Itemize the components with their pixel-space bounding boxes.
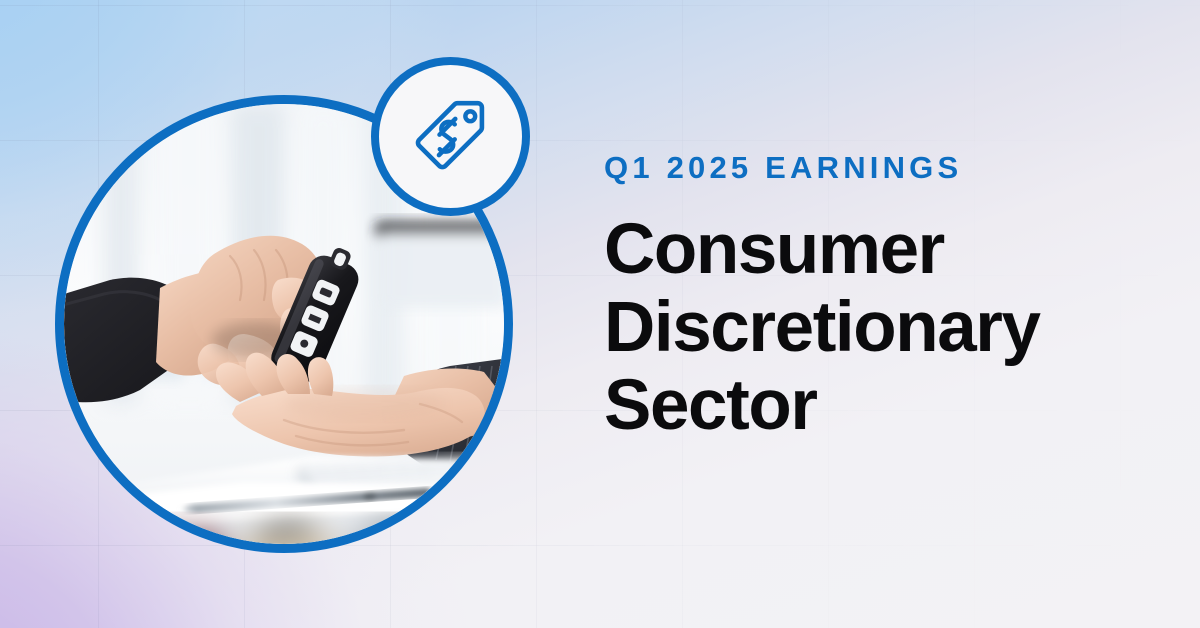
price-tag-dollar-icon (405, 91, 497, 183)
page-title: Consumer Discretionary Sector (604, 211, 1144, 445)
price-tag-dollar-icon-badge (371, 57, 530, 216)
headline-line-2: Discretionary (604, 288, 1040, 367)
headline-line-3: Sector (604, 366, 817, 445)
headline-line-1: Consumer (604, 210, 944, 289)
earnings-banner: Q1 2025 EARNINGS Consumer Discretionary … (0, 0, 1200, 628)
headline-text-block: Q1 2025 EARNINGS Consumer Discretionary … (604, 152, 1144, 445)
eyebrow-label: Q1 2025 EARNINGS (604, 152, 1144, 185)
